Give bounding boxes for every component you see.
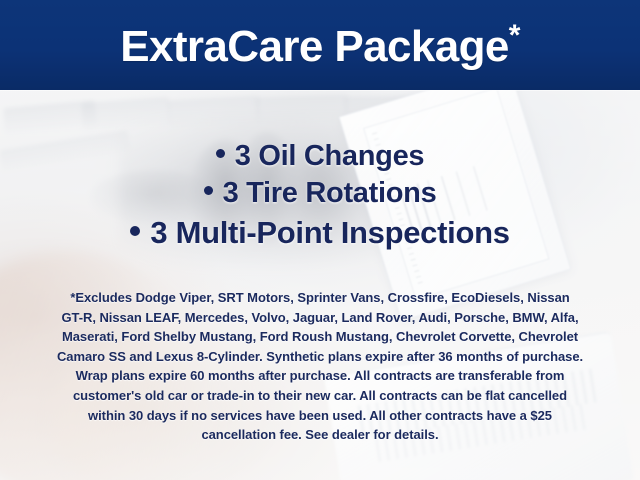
disclaimer-line: GT-R, Nissan LEAF, Mercedes, Volvo, Jagu… [26,308,614,328]
benefits-list: 3 Oil Changes 3 Tire Rotations 3 Multi-P… [0,138,640,254]
benefit-label: 3 Multi-Point Inspections [150,215,509,250]
header-band: ExtraCare Package* [0,0,640,90]
extracare-package-ad: ExtraCare Package* 3 Oil Changes 3 Tire … [0,0,640,480]
disclaimer-text: *Excludes Dodge Viper, SRT Motors, Sprin… [26,288,614,445]
bullet-dot-icon [204,186,213,195]
disclaimer-line: within 30 days if no services have been … [26,406,614,426]
page-title-text: ExtraCare Package [120,22,509,71]
disclaimer-line: Wrap plans expire 60 months after purcha… [26,366,614,386]
benefit-item-oil-changes: 3 Oil Changes [0,138,640,175]
benefit-item-multi-point-inspections: 3 Multi-Point Inspections [0,212,640,254]
bullet-dot-icon [130,226,140,236]
disclaimer-line: Camaro SS and Lexus 8-Cylinder. Syntheti… [26,347,614,367]
disclaimer-line: customer's old car or trade-in to their … [26,386,614,406]
benefit-label: 3 Oil Changes [235,140,425,172]
disclaimer-line: *Excludes Dodge Viper, SRT Motors, Sprin… [26,288,614,308]
benefit-label: 3 Tire Rotations [223,177,437,209]
disclaimer-line: Maserati, Ford Shelby Mustang, Ford Rous… [26,327,614,347]
page-title: ExtraCare Package* [120,21,520,69]
bullet-dot-icon [216,149,225,158]
benefit-item-tire-rotations: 3 Tire Rotations [0,175,640,212]
page-title-asterisk: * [509,19,520,52]
disclaimer-line: cancellation fee. See dealer for details… [26,425,614,445]
